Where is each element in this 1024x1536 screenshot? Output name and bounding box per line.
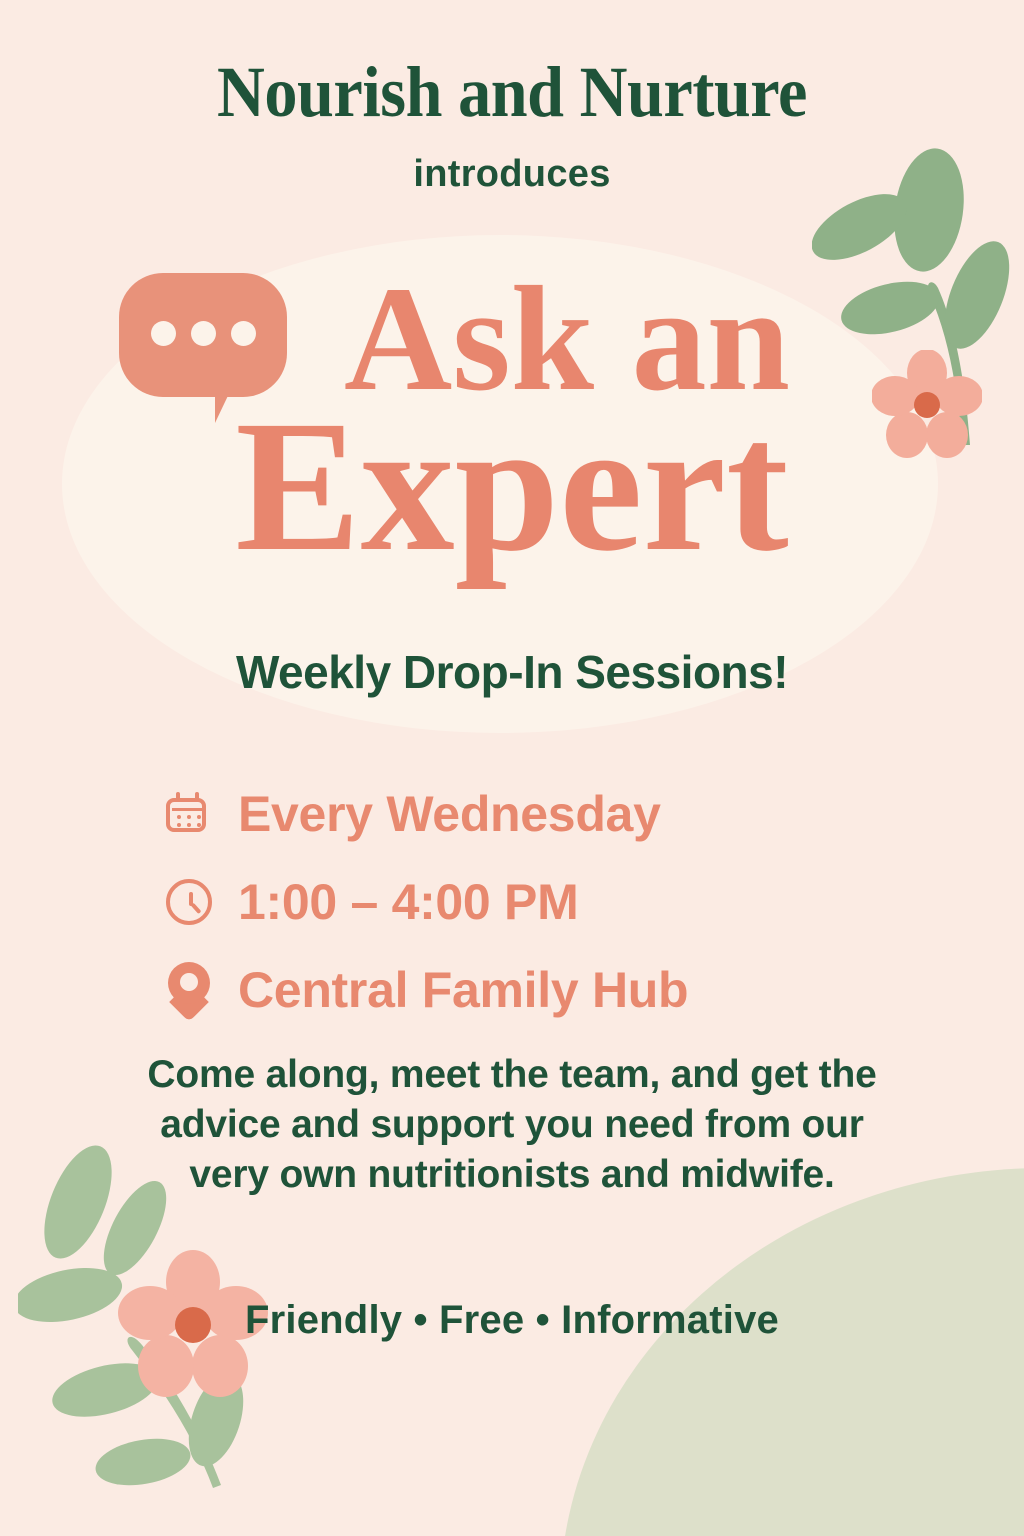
detail-row-location: Central Family Hub [0,946,1024,1034]
subheadline: Weekly Drop-In Sessions! [0,645,1024,699]
detail-row-time: 1:00 – 4:00 PM [0,858,1024,946]
clock-icon [160,879,218,925]
headline-line-2: Expert [0,397,1024,576]
main-headline: Ask an Expert [0,268,1024,575]
poster-canvas: Nourish and Nurture introduces Ask an Ex… [0,0,1024,1536]
calendar-icon [160,792,218,836]
body-copy: Come along, meet the team, and get the a… [120,1050,904,1200]
detail-row-date: Every Wednesday [0,770,1024,858]
detail-text-date: Every Wednesday [238,785,661,843]
event-details-list: Every Wednesday 1:00 – 4:00 PM Central F… [0,770,1024,1034]
detail-text-location: Central Family Hub [238,961,688,1019]
location-pin-icon [160,962,218,1018]
sage-blob-shape [560,1168,1024,1536]
brand-title: Nourish and Nurture [41,56,983,128]
tagline: Friendly • Free • Informative [0,1298,1024,1343]
detail-text-time: 1:00 – 4:00 PM [238,873,578,931]
introduces-label: introduces [0,153,1024,196]
